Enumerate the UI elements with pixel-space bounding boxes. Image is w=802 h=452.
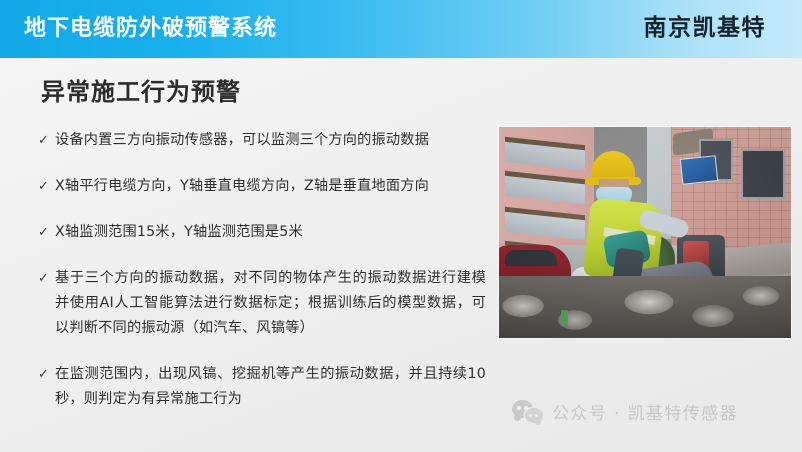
list-item-label: 在监测范围内，出现风镐、挖掘机等产生的振动数据，并且持续10秒，则判定为有异常施… [55, 362, 486, 412]
wechat-dot [535, 414, 538, 417]
list-item: ✓ 设备内置三方向振动传感器，可以监测三个方向的振动数据 [38, 128, 486, 153]
construction-photo [499, 127, 791, 338]
list-item: ✓ 基于三个方向的振动数据，对不同的物体产生的振动数据进行建模并使用AI人工智能… [38, 266, 486, 341]
wechat-bubble-small [525, 408, 543, 423]
wechat-icon [512, 400, 543, 423]
list-item-label: X轴平行电缆方向，Y轴垂直电缆方向，Z轴是垂直地面方向 [55, 174, 486, 199]
list-item: ✓ X轴平行电缆方向，Y轴垂直电缆方向，Z轴是垂直地面方向 [38, 174, 486, 199]
system-title: 地下电缆防外破预警系统 [24, 12, 277, 46]
page-title: 异常施工行为预警 [41, 76, 241, 108]
list-item-label: 设备内置三方向振动传感器，可以监测三个方向的振动数据 [55, 128, 486, 153]
check-icon: ✓ [38, 362, 55, 387]
slide-header-bar: 地下电缆防外破预警系统 南京凯基特 [0, 0, 802, 58]
slide: 地下电缆防外破预警系统 南京凯基特 异常施工行为预警 ✓ 设备内置三方向振动传感… [0, 0, 802, 452]
wechat-dot [524, 406, 528, 410]
list-item: ✓ 在监测范围内，出现风镐、挖掘机等产生的振动数据，并且持续10秒，则判定为有异… [38, 362, 486, 412]
check-icon: ✓ [38, 220, 55, 245]
check-icon: ✓ [38, 174, 55, 199]
check-icon: ✓ [38, 128, 55, 153]
list-item-label: X轴监测范围15米，Y轴监测范围是5米 [55, 220, 486, 245]
company-brand: 南京凯基特 [644, 11, 767, 45]
wechat-watermark: 公众号 · 凯基特传感器 [512, 399, 738, 424]
list-item-label: 基于三个方向的振动数据，对不同的物体产生的振动数据进行建模并使用AI人工智能算法… [55, 266, 486, 341]
check-icon: ✓ [38, 266, 55, 291]
feature-bullet-list: ✓ 设备内置三方向振动传感器，可以监测三个方向的振动数据 ✓ X轴平行电缆方向，… [38, 128, 486, 433]
wechat-dot [529, 414, 532, 417]
watermark-label: 公众号 · 凯基特传感器 [552, 399, 738, 424]
list-item: ✓ X轴监测范围15米，Y轴监测范围是5米 [38, 220, 486, 245]
photo-vignette [499, 127, 791, 338]
wechat-dot [517, 406, 521, 410]
photo-scene [499, 127, 791, 338]
